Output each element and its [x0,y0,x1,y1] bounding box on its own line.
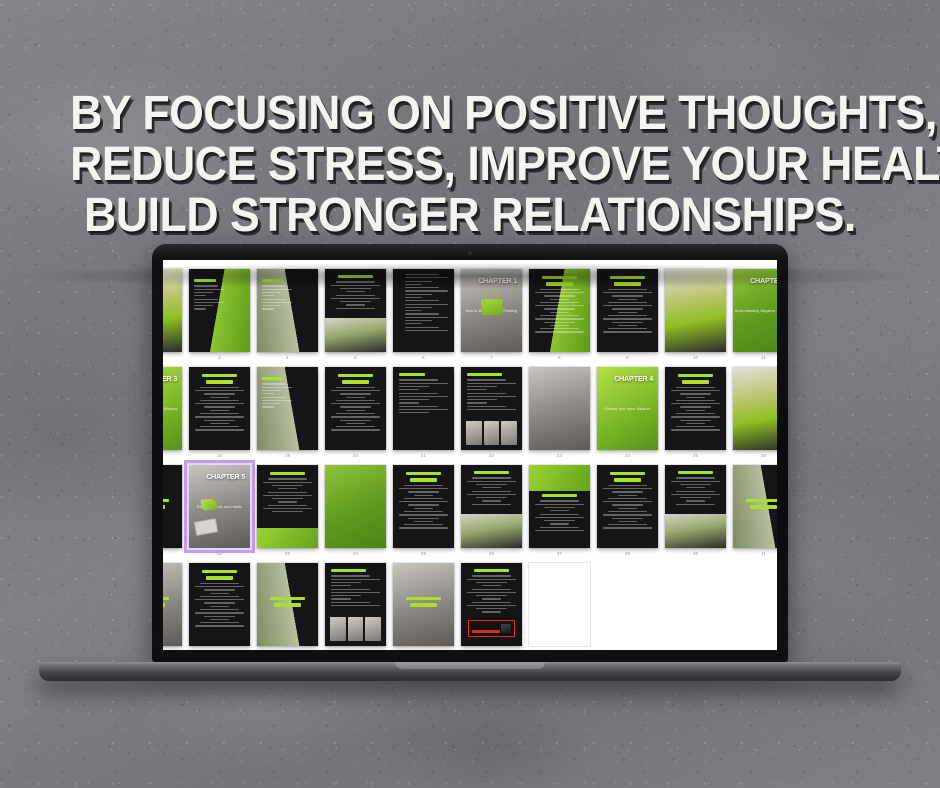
page-placeholder-cell [529,563,590,650]
page-number: 46 [257,649,318,650]
handbag-graphic [481,299,502,315]
laptop-base [39,662,901,681]
green-header-band [529,465,590,491]
headline: BY FOCUSING ON POSITIVE THOUGHTS, YOU CA… [0,88,940,241]
page-number: 21 [393,453,454,459]
page-thumbnail[interactable] [325,367,386,450]
page-text [399,373,448,415]
page-thumbnail[interactable]: CHAPTER 4Finding Your Inner Balance [597,367,658,450]
page-thumbnail-cell[interactable]: 37 [529,465,590,557]
keyboard-graphic [194,518,218,536]
page-thumbnail[interactable] [733,465,777,548]
page-thumbnail-cell[interactable]: 25 [665,367,726,459]
page-photo [665,514,726,548]
page-thumbnail-cell[interactable]: 49 [461,563,522,650]
page-number: 47 [325,649,386,650]
page-thumbnail-cell[interactable]: 45 [189,563,250,650]
page-caption [399,597,448,610]
page-thumbnail-cell[interactable]: 41 [733,465,777,557]
page-thumbnail[interactable] [529,367,590,450]
page-thumbnail-cell[interactable]: 20 [325,367,386,459]
page-text [671,374,720,433]
photo-strip [330,617,381,641]
page-number: 32 [189,551,250,557]
page-thumbnail[interactable] [325,563,386,646]
laptop-lid: 23456CHAPTER 1How to Build Positive Thin… [152,244,788,662]
page-number: 20 [325,453,386,459]
green-footer-band [257,528,318,548]
laptop-mockup: 23456CHAPTER 1How to Build Positive Thin… [152,244,788,681]
page-thumbnail[interactable] [189,563,250,646]
page-thumbnail-cell[interactable]: CHAPTER 4Finding Your Inner Balance24 [597,367,658,459]
chapter-subtitle: Finding Your Inner Balance [597,407,658,411]
page-number: 45 [189,649,250,650]
page-number: 44 [163,649,182,650]
blank-page-card [529,563,590,646]
page-thumbnail-cell[interactable]: 18 [189,367,250,459]
page-number: 3 [189,355,250,361]
page-number: 40 [665,551,726,557]
page-thumbnail-cell[interactable]: CHAPTER 3Unblocking a Positive Mindset17 [163,367,182,459]
page-number: 37 [529,551,590,557]
page-number: 17 [163,453,182,459]
page-thumbnail[interactable] [597,465,658,548]
page-thumbnail[interactable] [393,367,454,450]
page-caption [163,597,176,610]
page-number: 31 [163,551,182,557]
page-thumbnail-cell[interactable]: 22 [461,367,522,459]
page-thumbnail[interactable] [393,465,454,548]
page-number: 6 [393,355,454,361]
page-number: 19 [257,453,318,459]
page-caption [263,597,312,610]
page-thumbnail[interactable] [257,465,318,548]
page-number: 7 [461,355,522,361]
page-text [263,472,312,514]
page-photo [461,514,522,548]
headline-line-2: REDUCE STRESS, IMPROVE YOUR HEALTH, AND [70,139,870,190]
page-thumbnail[interactable] [325,465,386,548]
cta-banner[interactable] [468,620,515,637]
page-number: 48 [393,649,454,650]
page-thumbnail-cell[interactable]: 33 [257,465,318,557]
pdf-page-grid[interactable]: 23456CHAPTER 1How to Build Positive Thin… [163,269,777,650]
page-thumbnail-cell[interactable]: 34 [325,465,386,557]
page-thumbnail-cell[interactable]: CHAPTER 5Everyday Tools and Habits32 [189,465,250,557]
page-number: 36 [461,551,522,557]
page-thumbnail[interactable] [257,367,318,450]
page-thumbnail-selected[interactable]: CHAPTER 5Everyday Tools and Habits [189,465,250,548]
page-text [671,471,720,507]
page-text [603,472,652,531]
page-thumbnail[interactable] [665,465,726,548]
page-thumbnail[interactable] [461,367,522,450]
page-text [195,374,244,433]
page-number: 25 [665,453,726,459]
page-thumbnail-cell[interactable]: 23 [529,367,590,459]
chapter-label: CHAPTER 4 [614,374,653,383]
page-thumbnail[interactable] [461,563,522,646]
page-thumbnail-cell[interactable]: 40 [665,465,726,557]
page-thumbnail-cell[interactable]: 28 [733,367,777,459]
page-number: 4 [257,355,318,361]
page-thumbnail[interactable] [733,367,777,450]
page-number: 34 [325,551,386,557]
page-thumbnail-cell[interactable]: 38 [597,465,658,557]
page-text [195,570,244,629]
page-thumbnail[interactable] [189,367,250,450]
page-thumbnail[interactable] [163,563,182,646]
laptop-shadow [20,263,920,289]
page-number: 41 [733,551,777,557]
page-number: 18 [189,453,250,459]
page-thumbnail[interactable] [461,465,522,548]
page-caption [163,499,176,512]
page-number: 33 [257,551,318,557]
page-thumbnail-cell[interactable]: 36 [461,465,522,557]
photo-strip [466,421,517,445]
page-thumbnail[interactable] [257,563,318,646]
page-photo [325,318,386,352]
page-text [331,374,380,433]
laptop-screen: 23456CHAPTER 1How to Build Positive Thin… [163,260,777,650]
page-number: 24 [597,453,658,459]
page-number: 11 [733,355,777,361]
page-thumbnail-cell[interactable]: 21 [393,367,454,459]
page-thumbnail-cell[interactable]: 47 [325,563,386,650]
page-number: 9 [597,355,658,361]
page-thumbnail[interactable] [529,465,590,548]
page-thumbnail-cell[interactable]: 44 [163,563,182,650]
page-thumbnail[interactable] [163,465,182,548]
page-text [535,494,584,533]
webcam-icon [468,251,472,255]
page-thumbnail[interactable] [665,367,726,450]
page-caption [739,499,777,512]
page-text [399,472,448,531]
page-number: 22 [461,453,522,459]
chapter-subtitle: Everyday Tools and Habits [189,505,250,509]
page-thumbnail-cell[interactable]: 19 [257,367,318,459]
page-text [467,373,516,412]
page-thumbnail-cell[interactable]: 48 [393,563,454,650]
chapter-label: CHAPTER 5 [206,472,245,481]
headline-line-1: BY FOCUSING ON POSITIVE THOUGHTS, YOU CA… [70,88,870,139]
page-text [467,471,516,507]
page-text [467,569,516,615]
page-number: 28 [733,453,777,459]
page-number: 2 [163,355,182,361]
page-number: 10 [665,355,726,361]
heels-graphic [200,498,217,511]
page-thumbnail-cell[interactable]: 35 [393,465,454,557]
page-thumbnail-cell[interactable]: 46 [257,563,318,650]
page-number: 5 [325,355,386,361]
page-number: 35 [393,551,454,557]
headline-line-3: BUILD STRONGER RELATIONSHIPS. [70,190,870,241]
page-number: 38 [597,551,658,557]
page-text [262,377,292,410]
chapter-subtitle: Unblocking a Positive Mindset [163,407,182,411]
page-text [331,569,380,608]
chapter-label: CHAPTER 3 [163,374,177,383]
page-number: 23 [529,453,590,459]
page-thumbnail-cell[interactable]: 31 [163,465,182,557]
page-number: 8 [529,355,590,361]
chapter-subtitle: Understanding Negative Thoughts [733,309,777,313]
page-thumbnail[interactable] [393,563,454,646]
page-number: 49 [461,649,522,650]
page-thumbnail[interactable]: CHAPTER 3Unblocking a Positive Mindset [163,367,182,450]
